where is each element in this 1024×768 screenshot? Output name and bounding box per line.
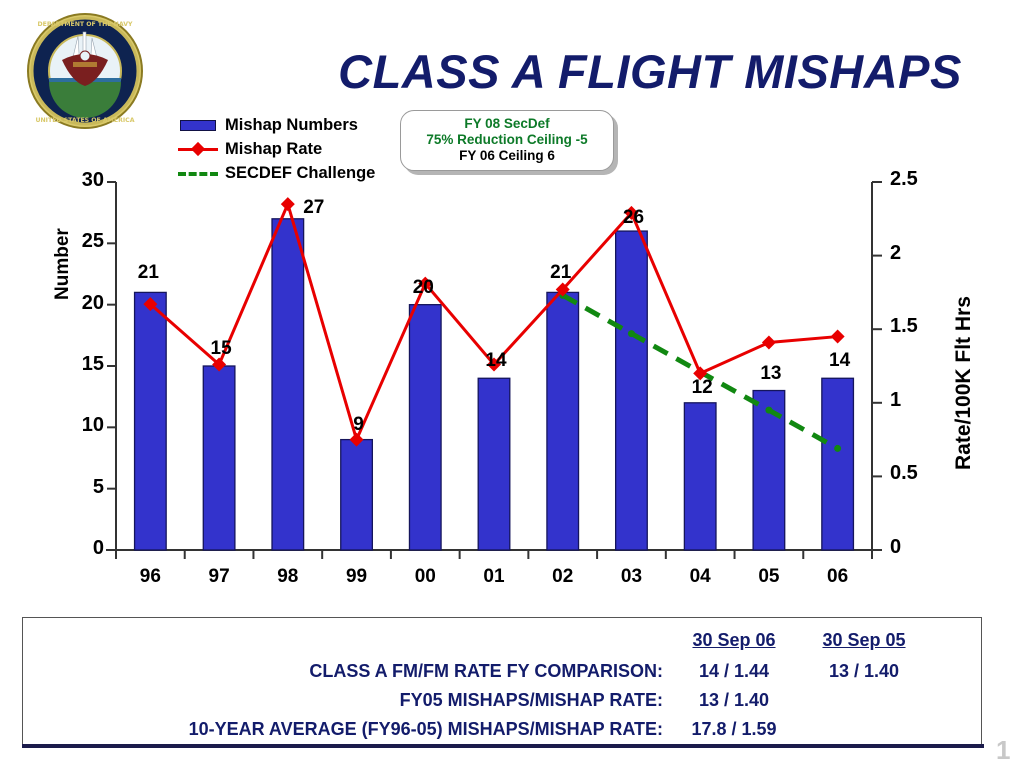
table-row-0-col2: 13 / 1.40 [805,661,923,682]
table-row-label-0: CLASS A FM/FM RATE FY COMPARISON: [23,661,673,682]
x-axis-tick-98: 98 [258,566,318,588]
y-axis-left-tick-30: 30 [54,169,104,192]
x-axis-tick-05: 05 [739,566,799,588]
bar-value-label-06: 14 [810,350,870,372]
x-axis-tick-02: 02 [533,566,593,588]
page-number: 1 [996,735,1010,766]
y-axis-right-tick-2: 2 [890,242,950,265]
y-axis-right-title: Rate/100K Flt Hrs [952,296,976,470]
table-row-1-col1: 13 / 1.40 [675,690,793,711]
table-row-2-col1: 17.8 / 1.59 [675,719,793,740]
table-row-0-col1: 14 / 1.44 [675,661,793,682]
y-axis-right-tick-0: 0 [890,536,950,559]
bar-value-label-01: 14 [466,350,526,372]
y-axis-right-tick-1: 1 [890,389,950,412]
y-axis-left-tick-10: 10 [54,414,104,437]
bar-value-label-99: 9 [329,414,389,436]
x-axis-tick-96: 96 [120,566,180,588]
table-row: FY05 MISHAPS/MISHAP RATE: 13 / 1.40 [23,690,981,716]
y-axis-left-tick-0: 0 [54,537,104,560]
bar-value-label-02: 21 [531,262,591,284]
x-axis-tick-99: 99 [327,566,387,588]
table-row-label-1: FY05 MISHAPS/MISHAP RATE: [23,690,673,711]
x-axis-tick-04: 04 [670,566,730,588]
bar-value-label-04: 12 [672,377,732,399]
x-axis-tick-06: 06 [808,566,868,588]
x-axis-tick-03: 03 [601,566,661,588]
x-axis-tick-00: 00 [395,566,455,588]
y-axis-left-tick-20: 20 [54,292,104,315]
table-header-30-sep-05: 30 Sep 05 [805,630,923,651]
y-axis-left-tick-5: 5 [54,476,104,499]
mishaps-chart: Number Rate/100K Flt Hrs 05101520253000.… [0,0,1024,620]
plot-area [0,0,1024,620]
bar-value-label-97: 15 [191,338,251,360]
table-header-30-sep-06: 30 Sep 06 [675,630,793,651]
x-axis-tick-97: 97 [189,566,249,588]
bar-value-label-03: 26 [603,207,663,229]
table-header-row: 30 Sep 06 30 Sep 05 [23,630,981,656]
y-axis-right-tick-1.5: 1.5 [890,315,950,338]
y-axis-right-tick-0.5: 0.5 [890,462,950,485]
y-axis-right-tick-2.5: 2.5 [890,168,950,191]
summary-table: 30 Sep 06 30 Sep 05 CLASS A FM/FM RATE F… [22,617,982,745]
bar-value-label-98: 27 [284,197,344,219]
bar-value-label-00: 20 [393,277,453,299]
bar-value-label-96: 21 [118,262,178,284]
table-row: CLASS A FM/FM RATE FY COMPARISON: 14 / 1… [23,661,981,687]
x-axis-tick-01: 01 [464,566,524,588]
table-row-label-2: 10-YEAR AVERAGE (FY96-05) MISHAPS/MISHAP… [23,719,673,740]
y-axis-left-tick-25: 25 [54,230,104,253]
bar-value-label-05: 13 [741,363,801,385]
table-row: 10-YEAR AVERAGE (FY96-05) MISHAPS/MISHAP… [23,719,981,745]
y-axis-left-tick-15: 15 [54,353,104,376]
